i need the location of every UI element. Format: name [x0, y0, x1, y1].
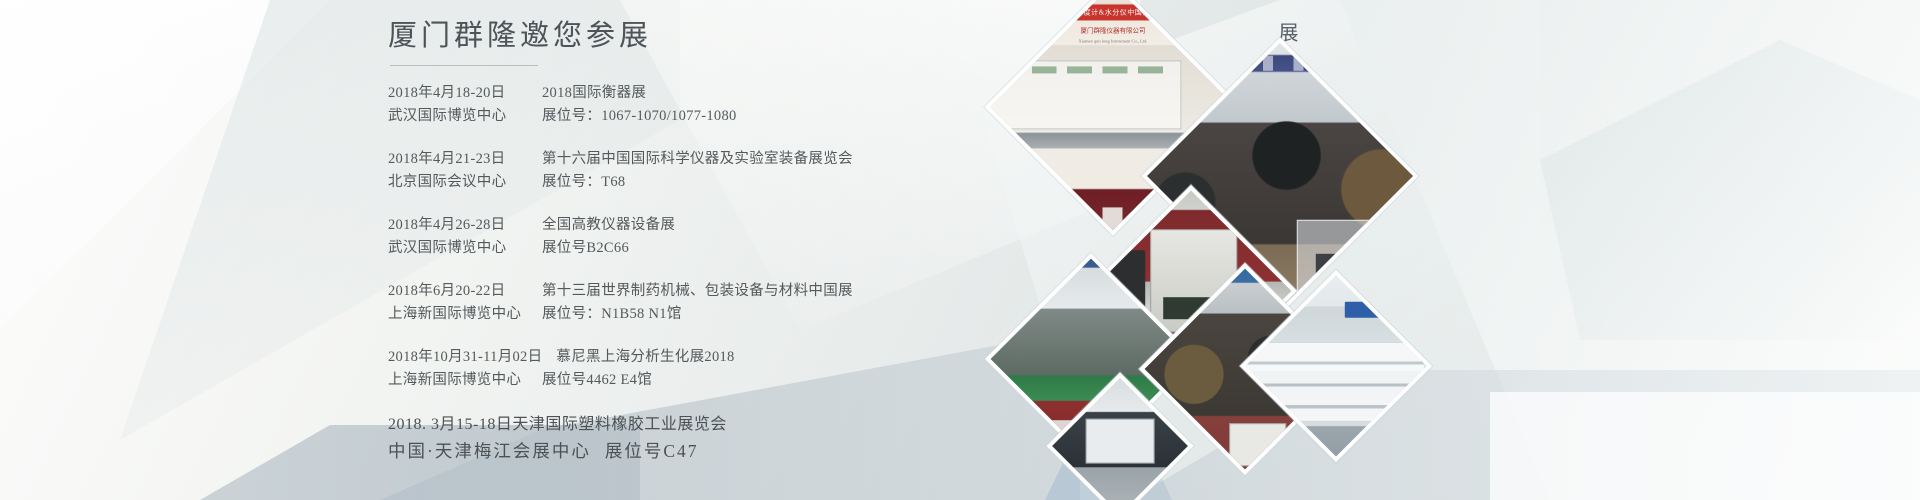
event-item: 2018年6月20-22日第十三届世界制药机械、包装设备与材料中国展 上海新国际…: [388, 280, 1008, 327]
event-date: 2018年4月26-28日: [388, 214, 528, 237]
exhibition-text-panel: 厦门群隆邀您参展 2018年4月18-20日2018国际衡器展 武汉国际博览中心…: [388, 18, 1008, 485]
event-booth: 展位号C47: [591, 437, 699, 465]
event-date: 2018年4月18-20日: [388, 82, 528, 105]
event-line-secondary: 中国·天津梅江会展中心展位号C47: [388, 437, 1008, 465]
event-name: 第十六届中国国际科学仪器及实验室装备展览会: [528, 148, 853, 171]
photo-collage: 密度计&水分仪中国供 厦门群隆仪器有限公司 Xiamen qun long In…: [1030, 0, 1450, 500]
booth-product-board: [988, 60, 1182, 129]
event-item: 2018年4月26-28日全国高教仪器设备展 武汉国际博览中心展位号B2C66: [388, 214, 1008, 261]
exhibition-banner: 厦门群隆邀您参展 2018年4月18-20日2018国际衡器展 武汉国际博览中心…: [0, 0, 1920, 500]
event-date: 2018年10月31-11月02日: [388, 346, 542, 369]
event-line-secondary: 武汉国际博览中心展位号B2C66: [388, 237, 1008, 260]
event-line-primary: 2018年6月20-22日第十三届世界制药机械、包装设备与材料中国展: [388, 280, 1008, 303]
event-booth: 展位号：T68: [528, 171, 625, 194]
event-venue: 武汉国际博览中心: [388, 105, 528, 128]
event-booth: 展位号B2C66: [528, 237, 629, 260]
event-line-primary: 2018年4月21-23日第十六届中国国际科学仪器及实验室装备展览会: [388, 148, 1008, 171]
booth-logo-mark: [1345, 301, 1423, 317]
event-booth: 展位号：N1B58 N1馆: [528, 303, 682, 326]
event-booth: 展位号4462 E4馆: [528, 369, 652, 392]
booth-banner-text: 密度计&水分仪中国供: [994, 5, 1232, 21]
event-item: 2018年10月31-11月02日慕尼黑上海分析生化展2018 上海新国际博览中…: [388, 346, 1008, 393]
event-line-secondary: 上海新国际博览中心展位号：N1B58 N1馆: [388, 303, 1008, 326]
booth-company-name-en: Xiamen qun long Instrument Co., Ltd.: [1007, 38, 1220, 43]
event-item: 2018年4月21-23日第十六届中国国际科学仪器及实验室装备展览会 北京国际会…: [388, 148, 1008, 195]
event-line-secondary: 上海新国际博览中心展位号4462 E4馆: [388, 369, 1008, 392]
event-line-primary: 2018. 3月15-18日天津国际塑料橡胶工业展览会: [388, 412, 1008, 438]
event-venue: 上海新国际博览中心: [388, 369, 528, 392]
booth-company-name-cn: 厦门群隆仪器有限公司: [1007, 24, 1220, 34]
title-underline-divider: [390, 65, 538, 66]
event-item: 2018. 3月15-18日天津国际塑料橡胶工业展览会 中国·天津梅江会展中心展…: [388, 412, 1008, 466]
event-date: 2018年6月20-22日: [388, 280, 528, 303]
page-title: 厦门群隆邀您参展: [388, 18, 1008, 56]
event-item: 2018年4月18-20日2018国际衡器展 武汉国际博览中心展位号：1067-…: [388, 82, 1008, 129]
event-date: 2018. 3月15-18日天津国际塑料橡胶工业展览会: [388, 416, 727, 433]
event-line-primary: 2018年4月18-20日2018国际衡器展: [388, 82, 1008, 105]
background-facet-8: [1540, 40, 1920, 340]
event-name: 第十三届世界制药机械、包装设备与材料中国展: [528, 280, 853, 303]
background-facet-10: [1490, 392, 1920, 500]
event-venue: 上海新国际博览中心: [388, 303, 528, 326]
event-date: 2018年4月21-23日: [388, 148, 528, 171]
event-line-secondary: 武汉国际博览中心展位号：1067-1070/1077-1080: [388, 105, 1008, 128]
event-venue: 北京国际会议中心: [388, 171, 528, 194]
event-name: 慕尼黑上海分析生化展2018: [542, 346, 734, 369]
event-line-primary: 2018年4月26-28日全国高教仪器设备展: [388, 214, 1008, 237]
event-booth: 展位号：1067-1070/1077-1080: [528, 105, 737, 128]
instrument-display-screen: [1085, 418, 1154, 463]
event-line-secondary: 北京国际会议中心展位号：T68: [388, 171, 1008, 194]
demo-instrument: [1230, 423, 1286, 466]
event-line-primary: 2018年10月31-11月02日慕尼黑上海分析生化展2018: [388, 346, 1008, 369]
event-name: 全国高教仪器设备展: [528, 214, 675, 237]
event-name: 2018国际衡器展: [528, 82, 646, 105]
event-venue: 中国·天津梅江会展中心: [388, 437, 591, 465]
event-venue: 武汉国际博览中心: [388, 237, 528, 260]
